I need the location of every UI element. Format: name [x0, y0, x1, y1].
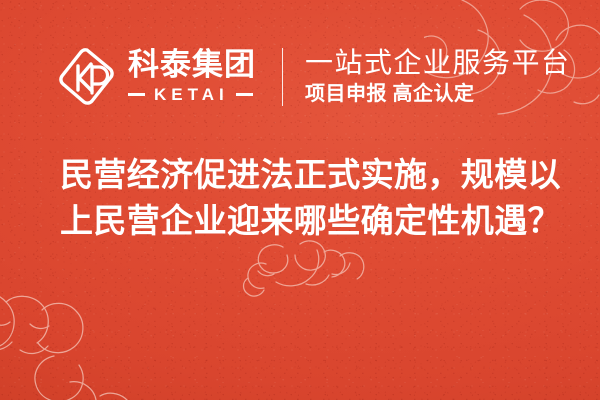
tagline-block: 一站式企业服务平台 项目申报 高企认定 [305, 47, 571, 107]
brand-name-en-row: KETAI [128, 85, 256, 105]
brand-name-cn: 科泰集团 [128, 49, 256, 81]
banner-header: 科泰集团 KETAI 一站式企业服务平台 项目申报 高企认定 [58, 38, 570, 116]
headline-line-1: 民营经济促进法正式实施，规模以 [60, 152, 572, 198]
brand-rule-right-icon [236, 93, 253, 96]
headline: 民营经济促进法正式实施，规模以 上民营企业迎来哪些确定性机遇？ [60, 152, 572, 244]
headline-line-2: 上民营企业迎来哪些确定性机遇？ [60, 198, 572, 244]
brand-rule-left-icon [128, 93, 145, 96]
brand-lockup: 科泰集团 KETAI [58, 46, 256, 108]
brand-wordmark: 科泰集团 KETAI [128, 49, 256, 104]
promo-banner: 科泰集团 KETAI 一站式企业服务平台 项目申报 高企认定 民营经济促进法正式… [0, 0, 600, 400]
brand-tagline-divider [282, 48, 283, 106]
tagline-sub: 项目申报 高企认定 [305, 82, 571, 107]
brand-name-en: KETAI [152, 85, 229, 105]
ketai-diamond-kp-monogram-icon [58, 46, 116, 108]
tagline-main: 一站式企业服务平台 [305, 47, 571, 78]
